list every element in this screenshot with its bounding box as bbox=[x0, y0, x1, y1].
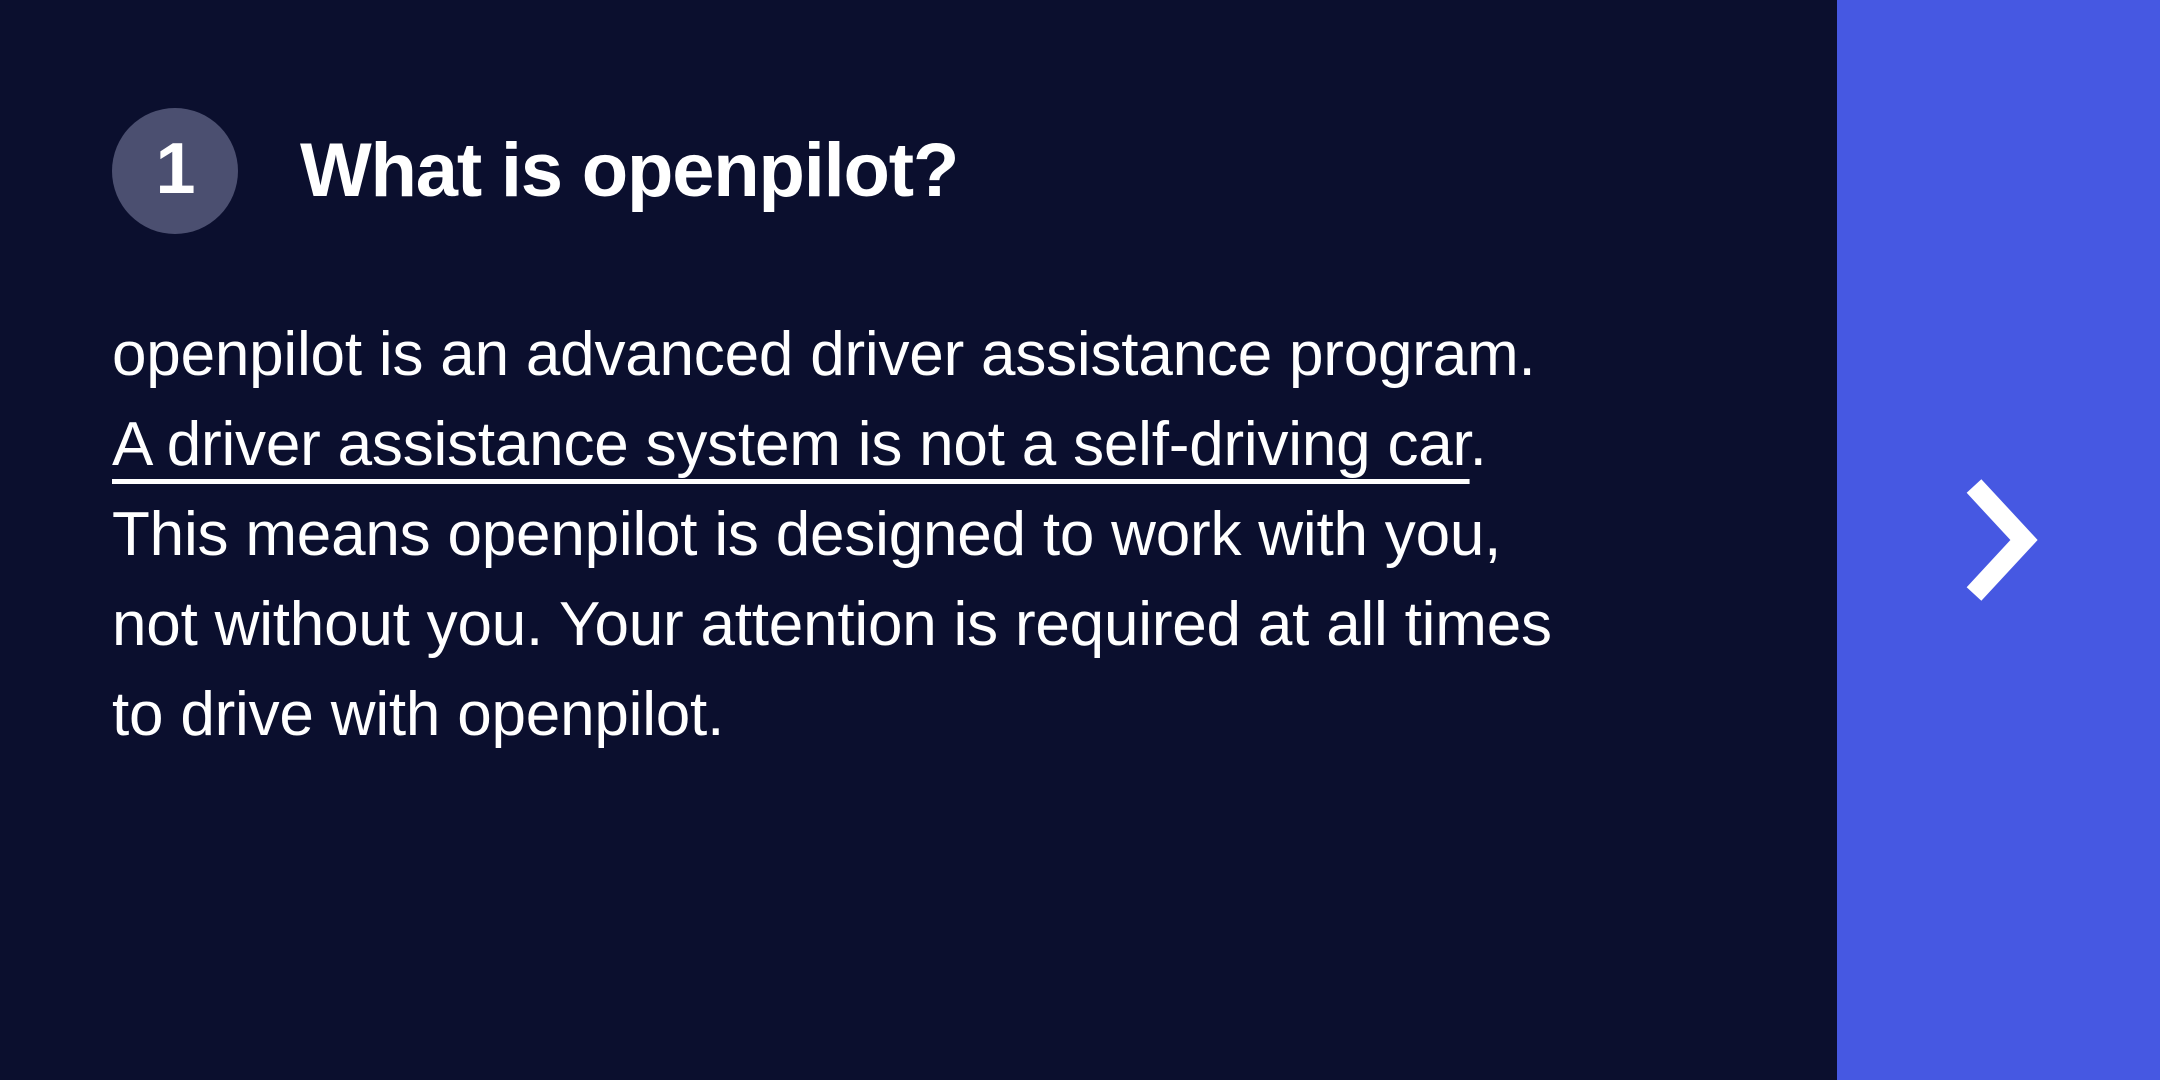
body-line: openpilot is an advanced driver assistan… bbox=[112, 310, 1772, 400]
step-number-badge: 1 bbox=[112, 108, 238, 234]
body-line: not without you. Your attention is requi… bbox=[112, 580, 1772, 670]
body-line-trailing-period: . bbox=[1470, 410, 1487, 479]
body-line: to drive with openpilot. bbox=[112, 670, 1772, 760]
next-button[interactable] bbox=[1837, 0, 2160, 1080]
heading-row: 1 What is openpilot? bbox=[112, 108, 1837, 234]
body-line-text: This means openpilot is designed to work… bbox=[112, 500, 1501, 569]
chevron-right-icon bbox=[1956, 476, 2042, 604]
step-number-label: 1 bbox=[155, 133, 194, 205]
page-title: What is openpilot? bbox=[300, 133, 958, 209]
body-line: This means openpilot is designed to work… bbox=[112, 490, 1772, 580]
body-line-text: to drive with openpilot. bbox=[112, 680, 724, 749]
body-line-text: openpilot is an advanced driver assistan… bbox=[112, 320, 1536, 389]
body-line: A driver assistance system is not a self… bbox=[112, 400, 1772, 490]
body-line-text-underlined: A driver assistance system is not a self… bbox=[112, 410, 1470, 479]
body-text: openpilot is an advanced driver assistan… bbox=[112, 310, 1772, 760]
onboarding-screen: 1 What is openpilot? openpilot is an adv… bbox=[0, 0, 2160, 1080]
body-line-text: not without you. Your attention is requi… bbox=[112, 590, 1552, 659]
content-pane: 1 What is openpilot? openpilot is an adv… bbox=[0, 0, 1837, 1080]
